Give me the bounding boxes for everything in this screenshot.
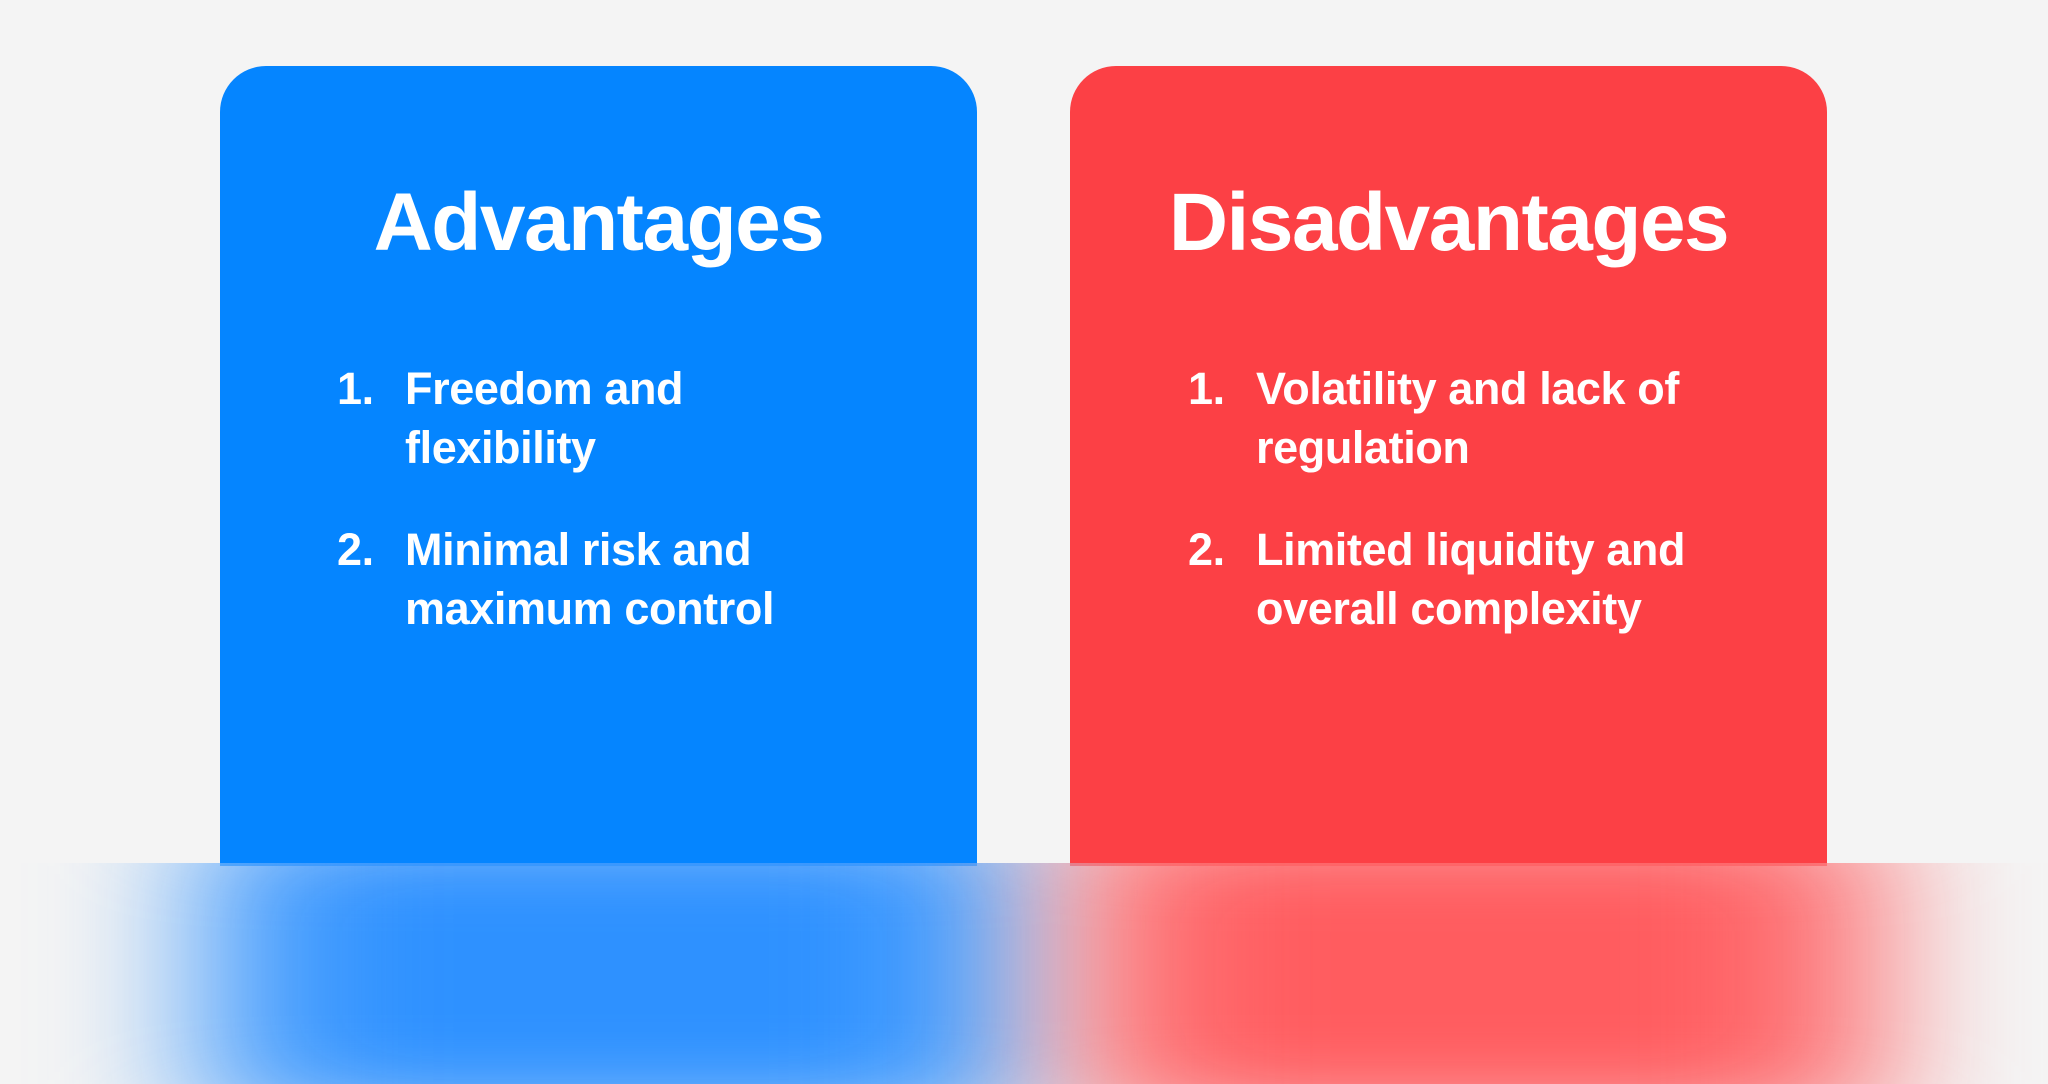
disadvantages-list: 1. Volatility and lack of regulation 2. … — [1070, 360, 1827, 682]
list-item: 2. Limited liquidity and overall complex… — [1070, 521, 1827, 638]
bottom-blur-fade — [0, 863, 2048, 1084]
list-item-text: Volatility and lack of regulation — [1256, 360, 1686, 477]
disadvantages-blur-blob — [960, 863, 1980, 1084]
advantages-blur-blob — [96, 863, 1106, 1084]
list-item-text: Freedom and flexibility — [405, 360, 835, 477]
list-item-marker: 2. — [337, 521, 405, 580]
disadvantages-card[interactable]: Disadvantages 1. Volatility and lack of … — [1070, 66, 1827, 863]
list-item-text: Minimal risk and maximum control — [405, 521, 835, 638]
list-item: 1. Freedom and flexibility — [220, 360, 977, 477]
list-item-marker: 2. — [1188, 521, 1256, 580]
slide-canvas: Advantages 1. Freedom and flexibility 2.… — [0, 0, 2048, 1084]
cards-layer: Advantages 1. Freedom and flexibility 2.… — [0, 0, 2048, 863]
list-item-marker: 1. — [337, 360, 405, 419]
list-item: 1. Volatility and lack of regulation — [1070, 360, 1827, 477]
list-item-marker: 1. — [1188, 360, 1256, 419]
list-item-text: Limited liquidity and overall complexity — [1256, 521, 1686, 638]
advantages-card-title: Advantages — [220, 182, 977, 264]
advantages-card[interactable]: Advantages 1. Freedom and flexibility 2.… — [220, 66, 977, 863]
advantages-list: 1. Freedom and flexibility 2. Minimal ri… — [220, 360, 977, 682]
list-item: 2. Minimal risk and maximum control — [220, 521, 977, 638]
disadvantages-card-title: Disadvantages — [1070, 182, 1827, 264]
